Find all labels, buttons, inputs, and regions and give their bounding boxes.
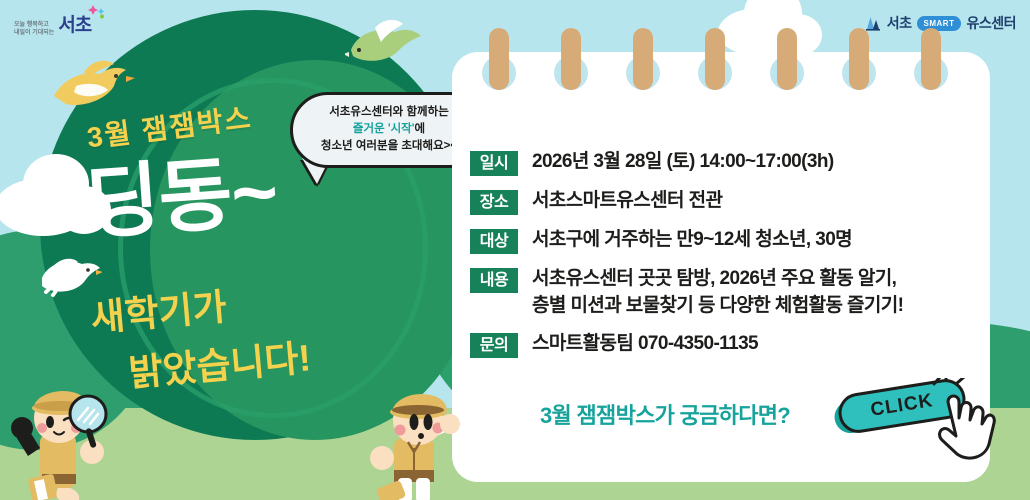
info-label-contact: 문의 [470, 333, 518, 358]
cloud-icon [0, 178, 91, 236]
binder-ring [705, 28, 725, 90]
info-value-content-line1: 서초유스센터 곳곳 탐방, 2026년 주요 활동 알기, [532, 265, 903, 292]
info-row-contact: 문의 스마트활동팀 070-4350-1135 [470, 330, 990, 358]
poster-root: 오늘 행복하고 내일이 기대되는 서초 서초 SMART 유스센터 3월 잼잼박… [0, 0, 1030, 500]
info-list: 일시 2026년 3월 28일 (토) 14:00~17:00(3h) 장소 서… [470, 148, 990, 369]
logo-tagline-2: 내일이 기대되는 [14, 29, 54, 37]
bubble-line-3: 청소년 여러분을 초대해요>< [303, 138, 475, 155]
cta-text: 3월 잼잼박스가 궁금하다면? [540, 398, 790, 430]
boy-explorer-running [358, 386, 474, 500]
seocho-logo: 오늘 행복하고 내일이 기대되는 서초 [14, 10, 124, 40]
info-value-content: 서초유스센터 곳곳 탐방, 2026년 주요 활동 알기, 층별 미션과 보물찾… [532, 265, 903, 319]
bubble-line-1: 서초유스센터와 함께하는 [303, 104, 475, 121]
yellow-bird-icon [48, 56, 136, 114]
logo-tagline-1: 오늘 행복하고 [14, 21, 54, 29]
sparkle-icon [88, 4, 106, 20]
smart-badge: SMART [917, 16, 962, 31]
info-row-content: 내용 서초유스센터 곳곳 탐방, 2026년 주요 활동 알기, 층별 미션과 … [470, 265, 990, 319]
info-label-content: 내용 [470, 268, 518, 293]
info-value-place: 서초스마트유스센터 전관 [532, 187, 722, 214]
info-row-date: 일시 2026년 3월 28일 (토) 14:00~17:00(3h) [470, 148, 990, 176]
binder-ring [489, 28, 509, 90]
info-row-target: 대상 서초구에 거주하는 만9~12세 청소년, 30명 [470, 226, 990, 254]
bubble-highlight: 즐거운 '시작' [353, 123, 415, 135]
binder-ring [921, 28, 941, 90]
binder-ring [777, 28, 797, 90]
info-value-date: 2026년 3월 28일 (토) 14:00~17:00(3h) [532, 148, 834, 175]
info-row-place: 장소 서초스마트유스센터 전관 [470, 187, 990, 215]
logo-name-suffix: 유스센터 [966, 13, 1016, 33]
info-label-place: 장소 [470, 190, 518, 215]
binder-ring [849, 28, 869, 90]
bubble-line-2: 즐거운 '시작'에 [303, 121, 475, 138]
green-bird-icon [345, 16, 425, 68]
info-value-target: 서초구에 거주하는 만9~12세 청소년, 30명 [532, 226, 852, 253]
pointing-hand-icon [928, 378, 1006, 464]
binder-ring [633, 28, 653, 90]
info-value-contact: 스마트활동팀 070-4350-1135 [532, 330, 758, 357]
info-label-date: 일시 [470, 151, 518, 176]
info-value-content-line2: 층별 미션과 보물찾기 등 다양한 체험활동 즐기기! [532, 292, 903, 319]
binder-ring [561, 28, 581, 90]
girl-explorer-with-magnifier [6, 378, 138, 500]
logo-wordmark: 서초 [58, 15, 91, 36]
bubble-line-2-post: 에 [414, 123, 425, 135]
youth-center-icon [864, 14, 882, 32]
info-label-target: 대상 [470, 229, 518, 254]
smart-youth-center-logo: 서초 SMART 유스센터 [864, 12, 1016, 34]
logo-name-prefix: 서초 [887, 13, 912, 33]
